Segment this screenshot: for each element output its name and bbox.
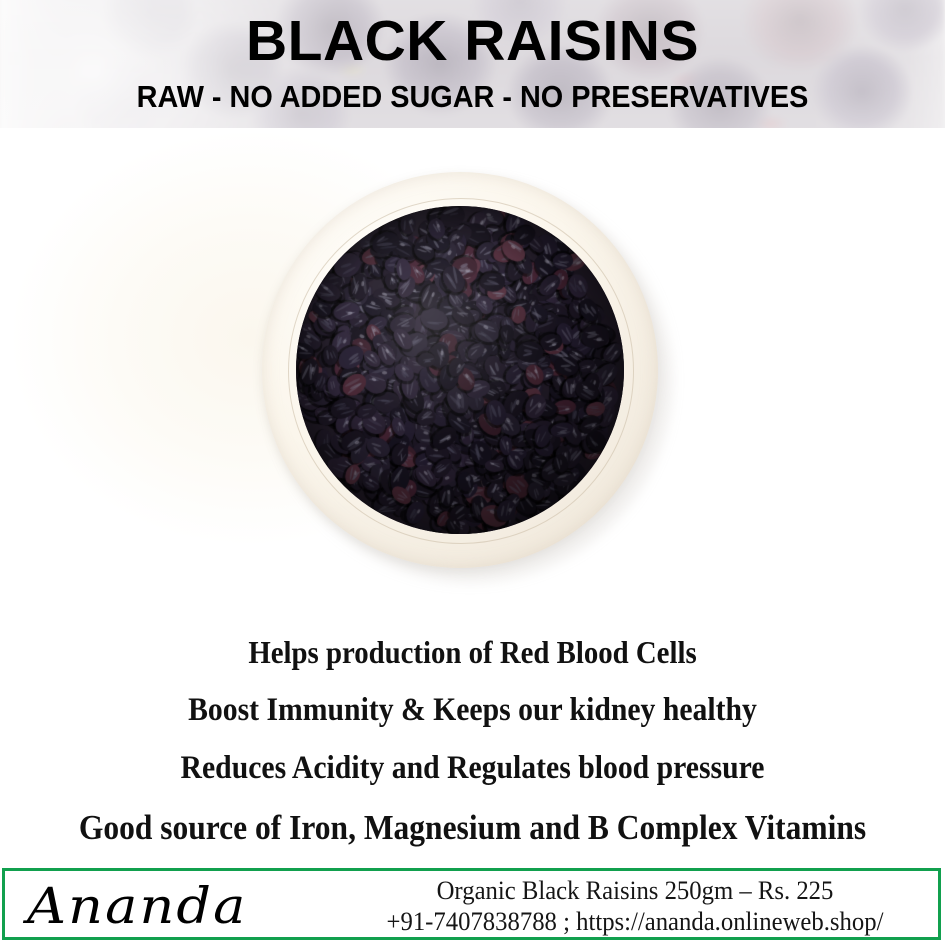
- product-poster: BLACK RAISINS RAW - NO ADDED SUGAR - NO …: [0, 0, 945, 945]
- benefit-item: Boost Immunity & Keeps our kidney health…: [47, 692, 898, 729]
- benefit-item: Helps production of Red Blood Cells: [47, 634, 898, 670]
- benefit-item: Reduces Acidity and Regulates blood pres…: [47, 750, 898, 787]
- benefit-item: Good source of Iron, Magnesium and B Com…: [47, 808, 898, 847]
- product-photo: [0, 128, 945, 628]
- brand-logo: Ananda: [27, 874, 351, 938]
- raisin-texture: [296, 206, 624, 534]
- raisin-pile: [296, 206, 624, 534]
- footer-bar: Ananda Organic Black Raisins 250gm – Rs.…: [2, 868, 941, 940]
- header-banner: BLACK RAISINS RAW - NO ADDED SUGAR - NO …: [0, 0, 945, 128]
- page-subtitle: RAW - NO ADDED SUGAR - NO PRESERVATIVES: [33, 80, 912, 114]
- product-price-line: Organic Black Raisins 250gm – Rs. 225: [350, 875, 920, 906]
- footer-contact-group: Organic Black Raisins 250gm – Rs. 225 +9…: [335, 875, 935, 937]
- benefits-list: Helps production of Red Blood Cells Boos…: [0, 628, 945, 868]
- page-title: BLACK RAISINS: [0, 11, 945, 71]
- header-text-group: BLACK RAISINS RAW - NO ADDED SUGAR - NO …: [0, 0, 945, 128]
- contact-line[interactable]: +91-7407838788 ; https://ananda.onlinewe…: [350, 906, 920, 937]
